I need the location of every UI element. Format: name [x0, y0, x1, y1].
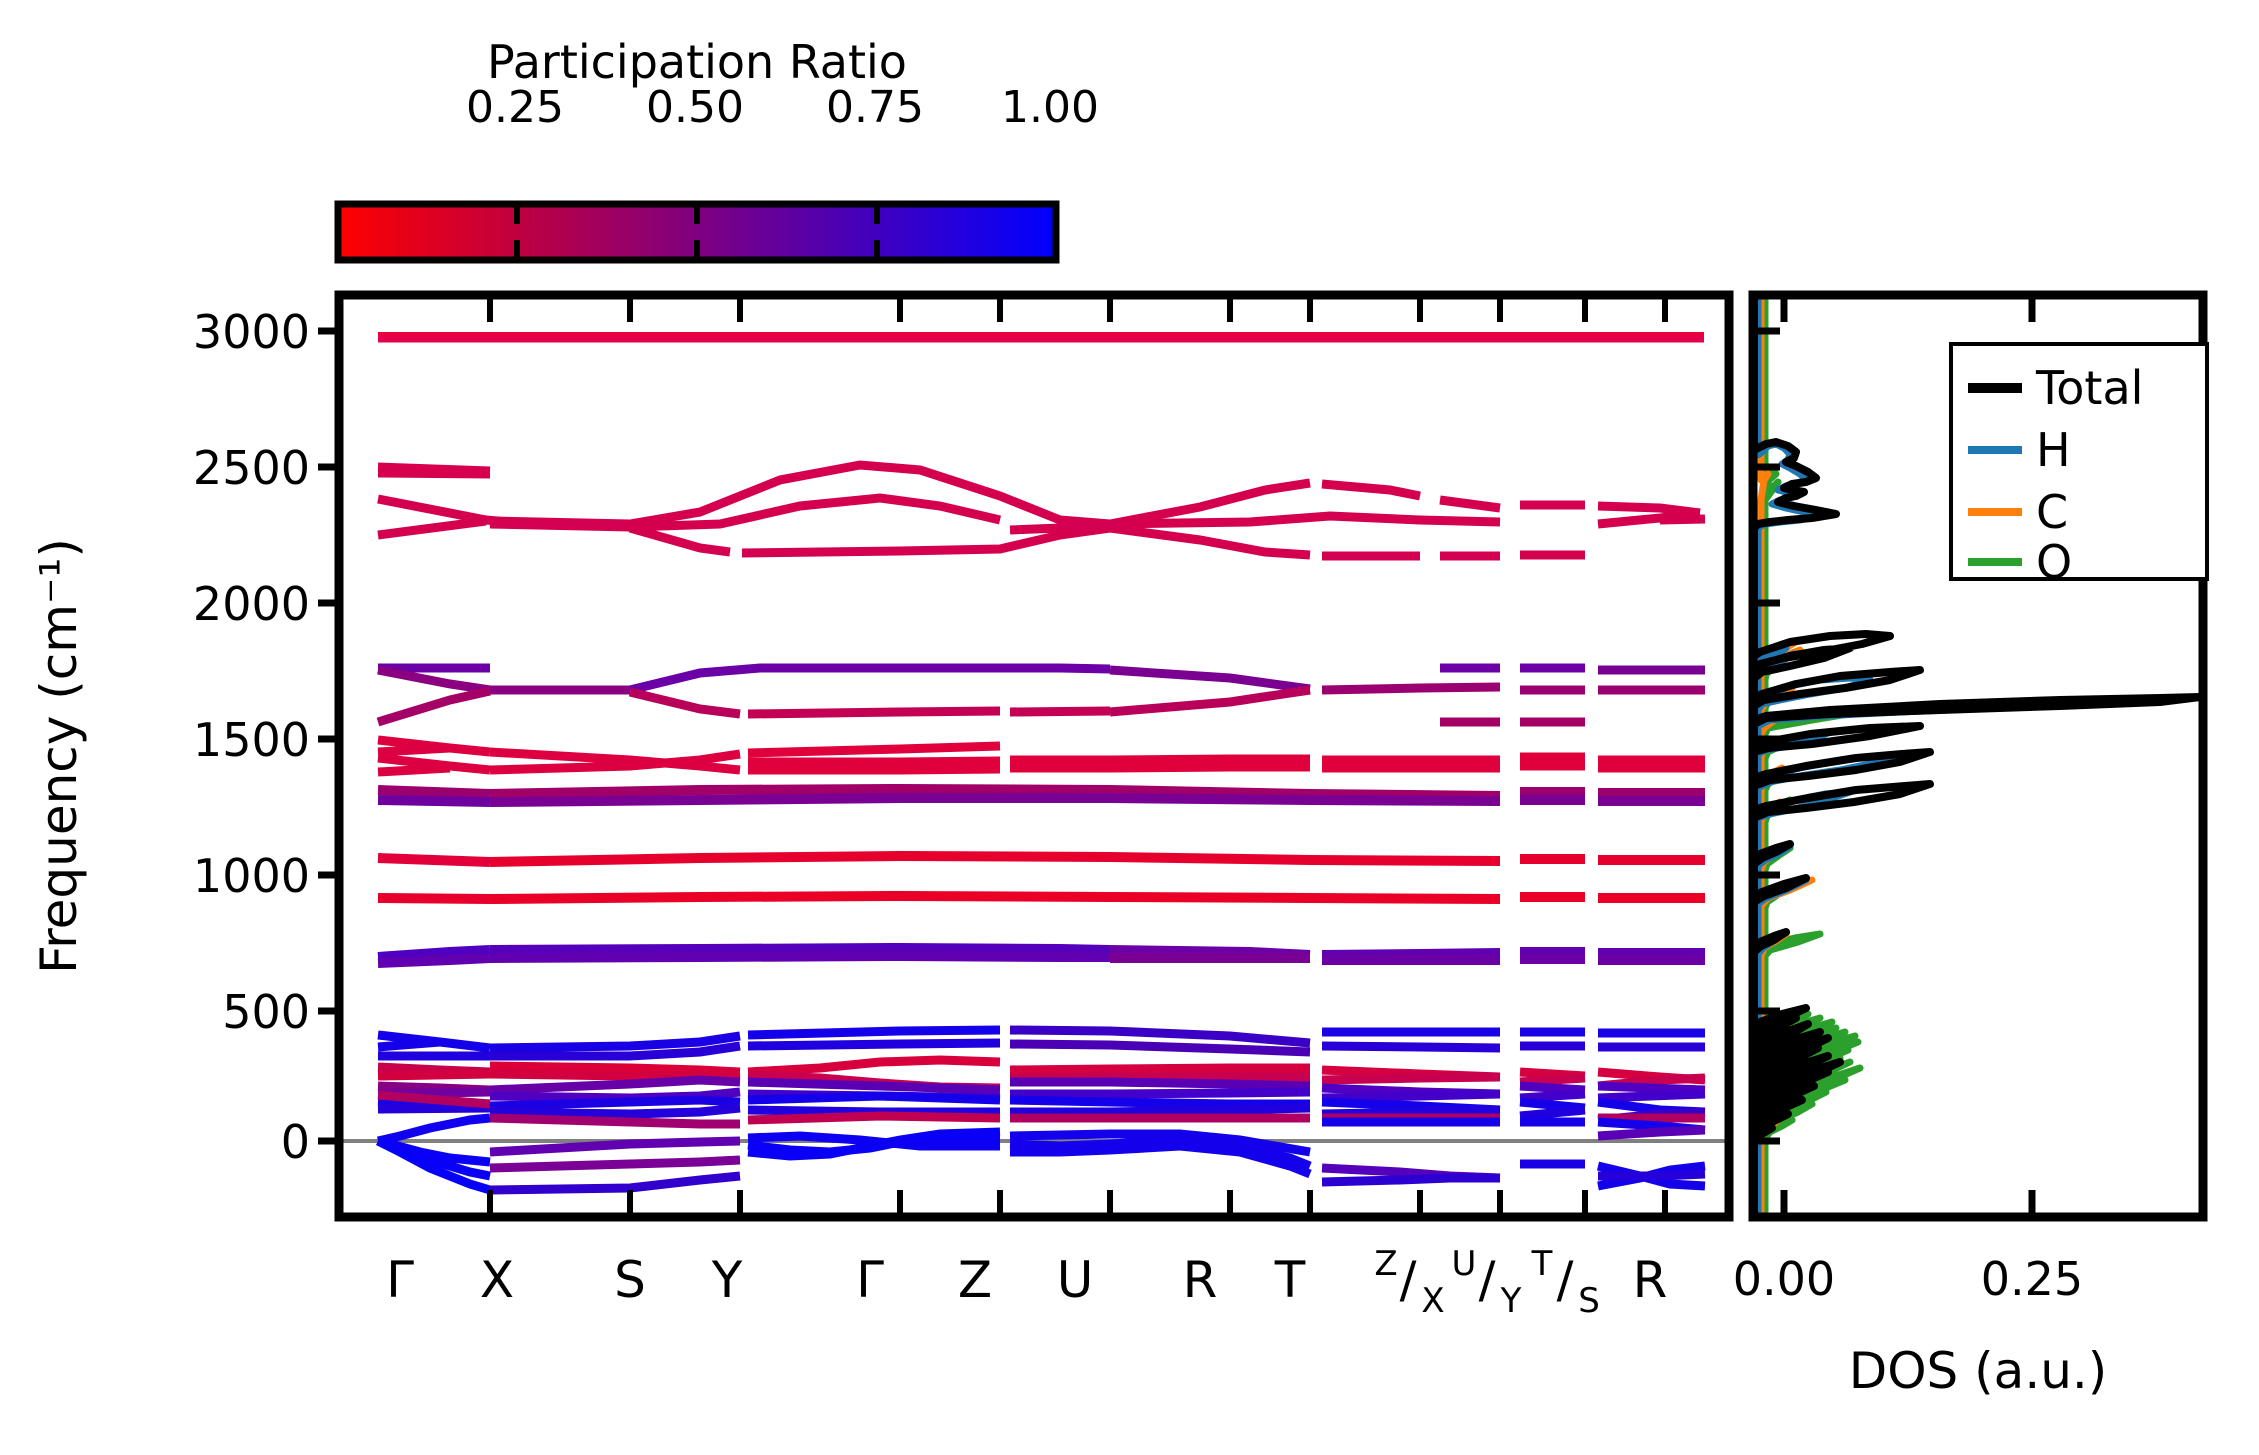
dos-x-axis-label: DOS (a.u.)	[1849, 1342, 2108, 1400]
kpoint-label-7: R	[1183, 1251, 1218, 1309]
figure-svg: Participation Ratio 0.25 0.50 0.75 1.00 …	[0, 0, 2259, 1455]
kpoint-label-11-den: S	[1578, 1281, 1600, 1321]
y-tick-2500: 2500	[193, 441, 310, 495]
kpoint-label-10-slash: /	[1479, 1251, 1496, 1309]
legend-label-o: O	[2036, 535, 2072, 589]
dos-x-tick-1: 0.25	[1981, 1252, 2083, 1306]
colorbar-tick-3: 1.00	[1001, 82, 1099, 133]
dos-legend[interactable]: Total H C O	[1951, 344, 2207, 589]
kpoint-label-3: Y	[711, 1251, 743, 1309]
kpoint-label-5: Z	[958, 1251, 992, 1309]
kpoint-label-0: Γ	[386, 1251, 414, 1309]
kpoint-label-1: X	[480, 1251, 514, 1309]
colorbar-tick-1: 0.50	[646, 82, 744, 133]
kpoint-label-4: Γ	[856, 1251, 884, 1309]
y-tick-1000: 1000	[193, 849, 310, 903]
kpoint-label-9-num: Z	[1374, 1244, 1397, 1284]
figure-canvas: Participation Ratio 0.25 0.50 0.75 1.00 …	[0, 0, 2259, 1455]
colorbar-title: Participation Ratio	[487, 35, 907, 89]
kpoint-label-9-den: X	[1421, 1281, 1444, 1321]
y-tick-3000: 3000	[193, 305, 310, 359]
y-axis-label: Frequency (cm⁻¹)	[30, 538, 88, 974]
kpoint-label-10-den: Y	[1500, 1281, 1522, 1321]
colorbar-tick-0: 0.25	[466, 82, 564, 133]
colorbar-tick-2: 0.75	[826, 82, 924, 133]
kpoint-label-11-num: T	[1531, 1244, 1553, 1284]
kpoint-label-9-slash: /	[1400, 1251, 1417, 1309]
kpoint-label-11-slash: /	[1557, 1251, 1574, 1309]
y-tick-2000: 2000	[193, 577, 310, 631]
kpoint-label-8: T	[1274, 1251, 1306, 1309]
legend-label-c: C	[2036, 485, 2068, 539]
kpoint-label-6: U	[1057, 1251, 1094, 1309]
kpoint-label-10-num: U	[1452, 1244, 1477, 1284]
legend-label-total: Total	[2035, 361, 2143, 415]
legend-label-h: H	[2036, 423, 2071, 477]
kpoint-label-2: S	[614, 1251, 646, 1309]
kpoint-label-12: R	[1633, 1251, 1668, 1309]
y-tick-0: 0	[281, 1115, 310, 1169]
y-tick-1500: 1500	[193, 713, 310, 767]
dos-x-tick-0: 0.00	[1733, 1252, 1835, 1306]
y-tick-500: 500	[222, 985, 310, 1039]
